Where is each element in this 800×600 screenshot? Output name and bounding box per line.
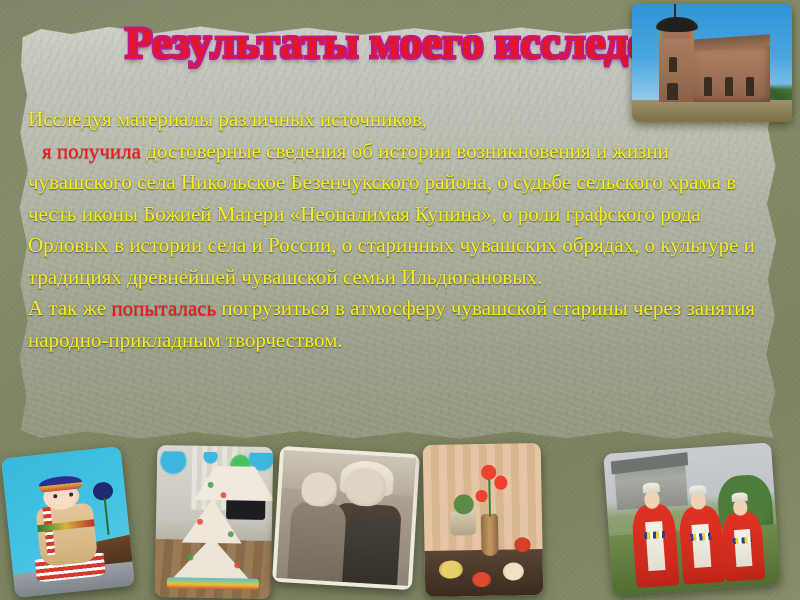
white-apron-1 — [645, 521, 666, 570]
flower-pot — [450, 511, 476, 536]
doll-eye-right — [69, 492, 73, 496]
highlight-popytalas: попыталась — [111, 296, 216, 320]
white-apron-2 — [692, 524, 712, 569]
body-text-block: Исследуя материалы различных источников,… — [28, 104, 776, 356]
fabric-motif-6 — [234, 562, 240, 568]
embroidery-band-1 — [644, 531, 665, 540]
tree-tier-top — [195, 465, 274, 500]
ruined-church-photo — [632, 4, 792, 122]
white-apron-3 — [734, 529, 753, 567]
doll-eye-left — [53, 494, 57, 498]
woman-face — [344, 467, 387, 508]
paper-craft-tree-photo — [155, 445, 274, 599]
child-body — [287, 502, 347, 582]
headdress-3 — [731, 492, 748, 502]
slide-canvas: Результаты моего исследования. Исследуя … — [0, 0, 800, 600]
chuvash-doll-photo — [1, 446, 135, 598]
church-image-content — [632, 4, 792, 122]
body-line-3-prefix: А так же — [28, 296, 111, 320]
green-plant — [453, 494, 473, 514]
photo-paper-border — [272, 446, 420, 590]
highlight-poluchila: я получила — [42, 139, 141, 163]
church-dome — [656, 17, 698, 32]
body-line-3: А так же попыталась погрузиться в атмосф… — [28, 293, 776, 356]
nave-window-1 — [704, 77, 712, 96]
church-spire — [674, 4, 676, 18]
women-image-content — [603, 442, 780, 595]
tree-tier-middle — [181, 499, 242, 544]
page-title: Результаты моего исследования. — [125, 18, 655, 68]
headdress-2 — [689, 485, 706, 495]
handicraft-table-photo — [423, 443, 544, 597]
tree-base-trim — [166, 577, 259, 589]
folk-costume-women-photo — [603, 442, 780, 595]
ground — [632, 100, 792, 122]
fabric-motif-2 — [220, 492, 226, 498]
headdress-1 — [642, 482, 660, 493]
tree-image-content — [155, 445, 274, 599]
face-3 — [733, 499, 748, 516]
woman-figure-3 — [719, 492, 765, 583]
body-line-2: я получила достоверные сведения об истор… — [28, 136, 776, 294]
craft-item-1 — [439, 560, 463, 579]
vintage-image-content — [276, 450, 416, 586]
tower-window — [669, 57, 677, 72]
child-face — [301, 472, 339, 507]
fabric-motif-3 — [197, 519, 203, 525]
wooden-vase — [481, 514, 499, 557]
craft-item-3 — [503, 562, 525, 581]
body-line-1-text: Исследуя материалы различных источников, — [28, 107, 427, 131]
carnation-bloom-3 — [475, 490, 487, 502]
craft-item-2 — [472, 572, 491, 588]
woman-figure-1 — [629, 481, 680, 589]
tower-door — [667, 83, 678, 100]
vintage-family-photo — [272, 446, 420, 590]
handicraft-image-content — [423, 443, 544, 597]
nave-window-3 — [746, 77, 754, 96]
nave-window-2 — [725, 77, 733, 96]
doll-image-content — [1, 446, 135, 598]
woman-figure-2 — [676, 483, 725, 585]
carnation-bloom-2 — [494, 476, 507, 490]
embroidery-band-2 — [690, 532, 711, 540]
